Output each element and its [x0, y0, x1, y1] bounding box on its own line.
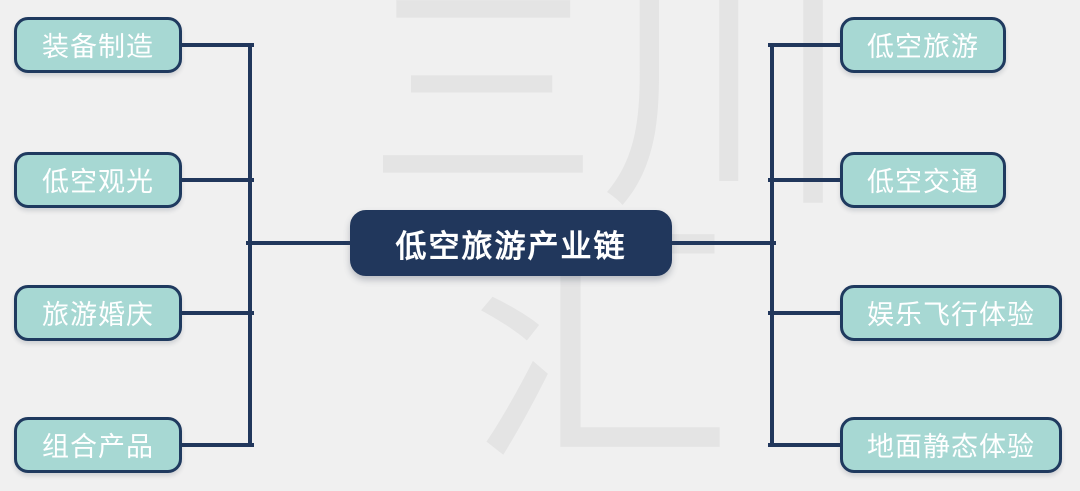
diagram-canvas: 三 川 汇 低空旅游产业链 装备制造 低空观光 旅游婚庆 [0, 0, 1080, 491]
right-node-2-label: 低空交通 [867, 160, 979, 199]
central-node[interactable]: 低空旅游产业链 [350, 210, 672, 276]
right-node-3[interactable]: 娱乐飞行体验 [840, 285, 1062, 341]
left-node-1[interactable]: 装备制造 [14, 17, 182, 73]
left-node-4[interactable]: 组合产品 [14, 417, 182, 473]
watermark-char-2: 川 [600, 0, 850, 222]
right-node-3-label: 娱乐飞行体验 [867, 293, 1035, 332]
left-node-3[interactable]: 旅游婚庆 [14, 285, 182, 341]
right-node-2[interactable]: 低空交通 [840, 152, 1006, 208]
left-node-3-label: 旅游婚庆 [42, 293, 154, 332]
left-node-4-label: 组合产品 [42, 425, 154, 464]
right-node-4-label: 地面静态体验 [867, 425, 1035, 464]
right-node-1[interactable]: 低空旅游 [840, 17, 1006, 73]
right-node-4[interactable]: 地面静态体验 [840, 417, 1062, 473]
left-node-1-label: 装备制造 [42, 25, 154, 64]
left-node-2-label: 低空观光 [42, 160, 154, 199]
left-node-2[interactable]: 低空观光 [14, 152, 182, 208]
watermark-char-1: 三 [368, 0, 598, 208]
right-node-1-label: 低空旅游 [867, 25, 979, 64]
central-node-label: 低空旅游产业链 [396, 221, 627, 266]
